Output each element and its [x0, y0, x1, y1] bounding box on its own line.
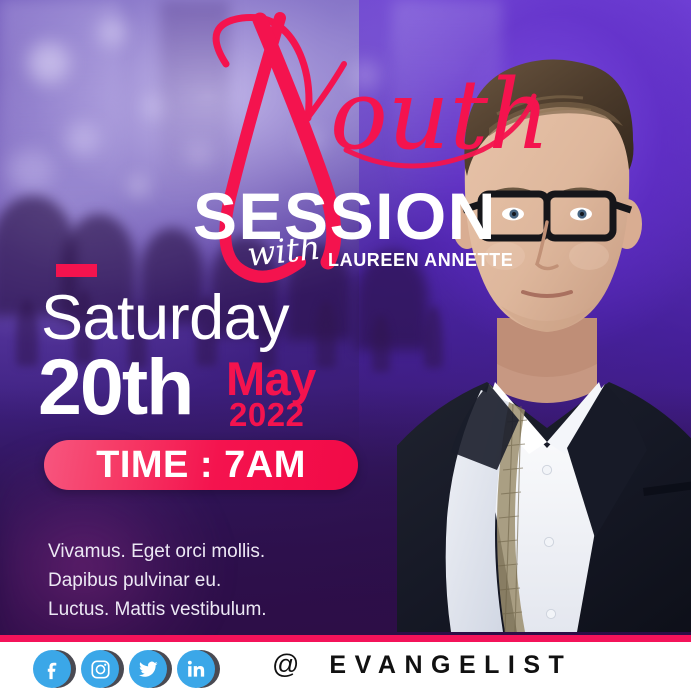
social-link-twitter[interactable]	[129, 649, 168, 688]
time-label: TIME : 7AM	[96, 446, 306, 484]
event-flyer: outh SESSION with LAUREEN ANNETTE Saturd…	[0, 0, 691, 691]
body-line-1: Vivamus. Eget orci mollis.	[48, 538, 378, 567]
instagram-icon[interactable]	[81, 650, 119, 688]
raised-hand-silhouette	[372, 316, 390, 372]
footer-bar: @ EVANGELIST	[0, 635, 691, 691]
footer-accent-stripe	[0, 635, 691, 642]
date-year: 2022	[229, 398, 304, 431]
social-link-instagram[interactable]	[81, 649, 120, 688]
twitter-icon[interactable]	[129, 650, 167, 688]
social-link-linkedin[interactable]	[177, 649, 216, 688]
body-line-2: Dapibus pulvinar eu.	[48, 567, 378, 596]
date-weekday: Saturday	[41, 287, 289, 350]
linkedin-icon[interactable]	[177, 650, 215, 688]
at-symbol: @	[272, 651, 299, 678]
raised-hand-silhouette	[316, 300, 336, 368]
speaker-name: LAUREEN ANNETTE	[328, 250, 513, 271]
facebook-icon[interactable]	[33, 650, 71, 688]
handle-name: EVANGELIST	[329, 653, 572, 678]
session-title: SESSION	[193, 183, 497, 249]
time-badge: TIME : 7AM	[44, 440, 358, 490]
social-handle: @ EVANGELIST	[272, 651, 572, 678]
date-month: May	[226, 355, 316, 402]
body-copy: Vivamus. Eget orci mollis. Dapibus pulvi…	[48, 538, 378, 625]
date-accent-bar	[56, 264, 97, 277]
raised-hand-silhouette	[16, 300, 38, 366]
social-links	[33, 649, 216, 688]
headline-block: outh SESSION with LAUREEN ANNETTE	[0, 0, 691, 300]
svg-text:outh: outh	[330, 59, 550, 171]
social-link-facebook[interactable]	[33, 649, 72, 688]
with-script-label: with	[246, 231, 322, 271]
date-day: 20th	[38, 347, 192, 426]
body-line-3: Luctus. Mattis vestibulum.	[48, 596, 378, 625]
